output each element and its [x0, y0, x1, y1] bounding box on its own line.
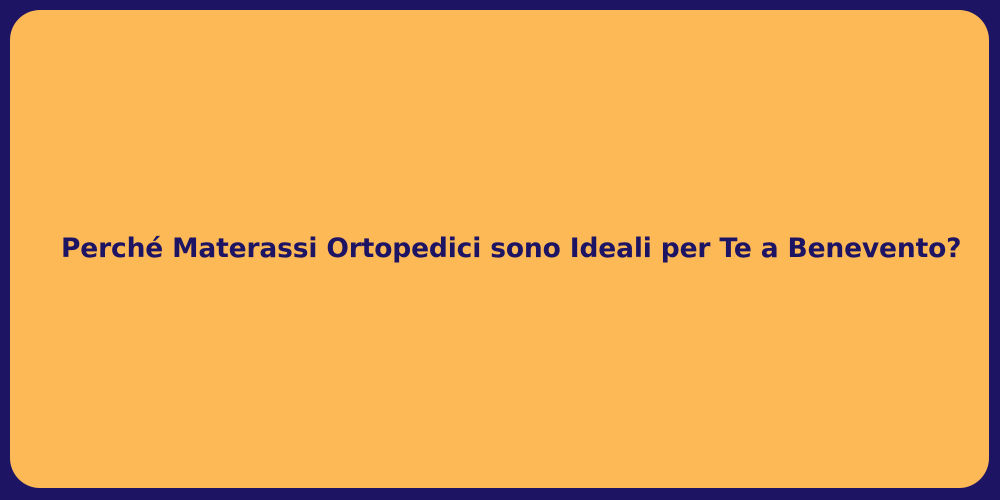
banner-frame: Perché Materassi Ortopedici sono Ideali …: [0, 0, 1000, 500]
banner-card: Perché Materassi Ortopedici sono Ideali …: [10, 10, 989, 488]
page-title: Perché Materassi Ortopedici sono Ideali …: [61, 232, 961, 265]
